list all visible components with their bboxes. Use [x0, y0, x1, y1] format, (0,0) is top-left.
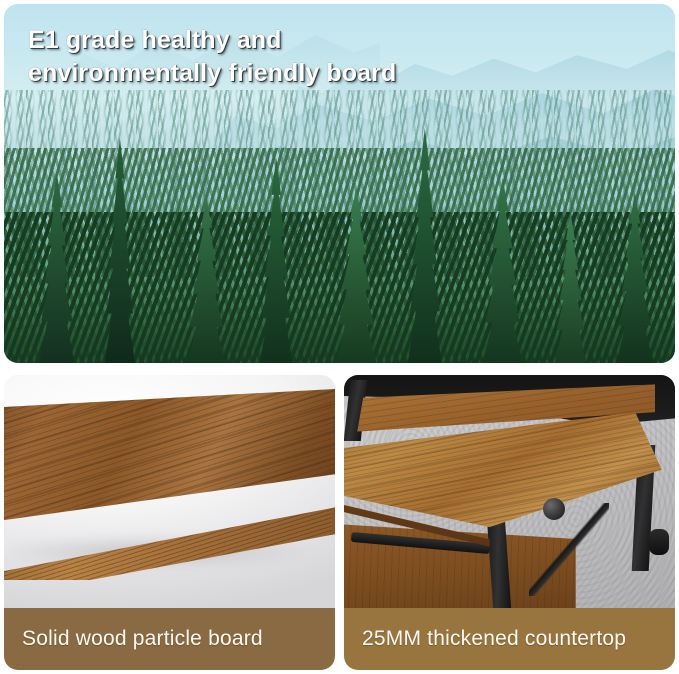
particle-board	[4, 389, 335, 580]
board-top-face	[4, 389, 335, 527]
caption-label-right: 25MM thickened countertop	[362, 627, 626, 651]
caption-label-left: Solid wood particle board	[22, 627, 263, 651]
product-feature-page: E1 grade healthy and environmentally fri…	[0, 0, 679, 674]
desk-height-adjust-knob	[543, 498, 565, 520]
desk-caster-wheel	[649, 529, 669, 555]
card-solid-wood-particle-board[interactable]: Solid wood particle board	[4, 375, 335, 670]
banner-title: E1 grade healthy and environmentally fri…	[28, 24, 588, 90]
desk-leg-diagonal-brace	[529, 503, 608, 596]
wood-board-photo	[4, 375, 335, 608]
forest-banner-panel: E1 grade healthy and environmentally fri…	[4, 4, 675, 363]
desk-countertop-photo	[344, 375, 675, 608]
caption-bar-left: Solid wood particle board	[4, 608, 335, 670]
banner-title-line-1: E1 grade healthy and	[28, 24, 588, 57]
caption-bar-right: 25MM thickened countertop	[344, 608, 675, 670]
card-25mm-thickened-countertop[interactable]: 25MM thickened countertop	[344, 375, 675, 670]
feature-cards-row: Solid wood particle board 25MM	[4, 375, 675, 670]
banner-title-line-2: environmentally friendly board	[28, 57, 588, 90]
